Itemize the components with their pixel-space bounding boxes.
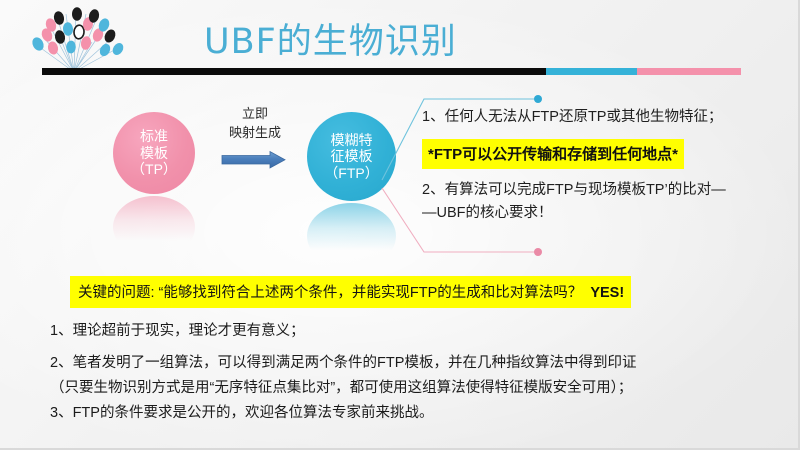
title-rule-blue — [546, 68, 637, 75]
bottom-line-3: 3、FTP的条件要求是公开的，欢迎各位算法专家前来挑战。 — [46, 401, 766, 422]
mapping-arrow-icon — [219, 150, 291, 174]
bottom-line-2: 2、笔者发明了一组算法，可以得到满足两个条件的FTP模板，并在几种指纹算法中得到… — [46, 351, 766, 372]
mapping-label: 立即 映射生成 — [218, 105, 292, 143]
ftp-node-line3: （FTP） — [324, 165, 378, 182]
mapping-label-line1: 立即 — [218, 105, 292, 124]
tp-node-line3: （TP） — [131, 161, 177, 178]
key-question-highlight: 关键的问题: “能够找到符合上述两个条件，并能实现FTP的生成和比对算法吗？ Y… — [70, 276, 631, 308]
callout-item-2-line-1: 2、有算法可以完成FTP与现场模板TP’的比对— — [422, 181, 782, 201]
tp-node: 标准 模板 （TP） — [113, 112, 195, 194]
title-rule-pink — [637, 68, 741, 75]
key-question-text: 关键的问题: “能够找到符合上述两个条件，并能实现FTP的生成和比对算法吗？ — [78, 285, 582, 301]
key-question-wrap: 关键的问题: “能够找到符合上述两个条件，并能实现FTP的生成和比对算法吗？ Y… — [46, 276, 766, 308]
bracket-top-dot — [534, 95, 542, 103]
mapping-label-line2: 映射生成 — [218, 124, 292, 143]
tp-node-line2: 模板 — [140, 145, 168, 162]
tp-node-reflection — [113, 196, 195, 258]
balloon-burst-icon — [26, 2, 146, 74]
bracket-bottom-dot — [534, 248, 542, 256]
title-rule-black — [42, 68, 546, 75]
callout-item-1: 1、任何人无法从FTP还原TP或其他生物特征； — [422, 108, 782, 128]
callout-text-panel: 1、任何人无法从FTP还原TP或其他生物特征； *FTP可以公开传输和存储到任何… — [422, 108, 782, 224]
tp-node-line1: 标准 — [140, 128, 168, 145]
callout-highlight: *FTP可以公开传输和存储到任何地点* — [422, 139, 684, 169]
key-question-answer: YES! — [590, 285, 624, 301]
callout-highlight-wrap: *FTP可以公开传输和存储到任何地点* — [422, 139, 782, 169]
page-title: UBF的生物识别 — [204, 13, 457, 64]
bottom-line-1: 1、理论超前于现实，理论才更有意义； — [46, 319, 766, 340]
callout-item-2-line-2: —UBF的核心要求！ — [422, 204, 782, 224]
bottom-line-2-cont: （只要生物识别方式是用“无序特征点集比对”，都可使用这组算法使得特征模版安全可用… — [46, 376, 766, 397]
slide-canvas: UBF的生物识别 标准 模板 （TP） 模糊特 征模板 （FTP） 立即 映射生… — [0, 0, 800, 450]
ftp-node-line2: 征模板 — [331, 148, 373, 165]
bottom-text-block: 关键的问题: “能够找到符合上述两个条件，并能实现FTP的生成和比对算法吗？ Y… — [46, 276, 766, 422]
ftp-node-line1: 模糊特 — [331, 132, 373, 149]
